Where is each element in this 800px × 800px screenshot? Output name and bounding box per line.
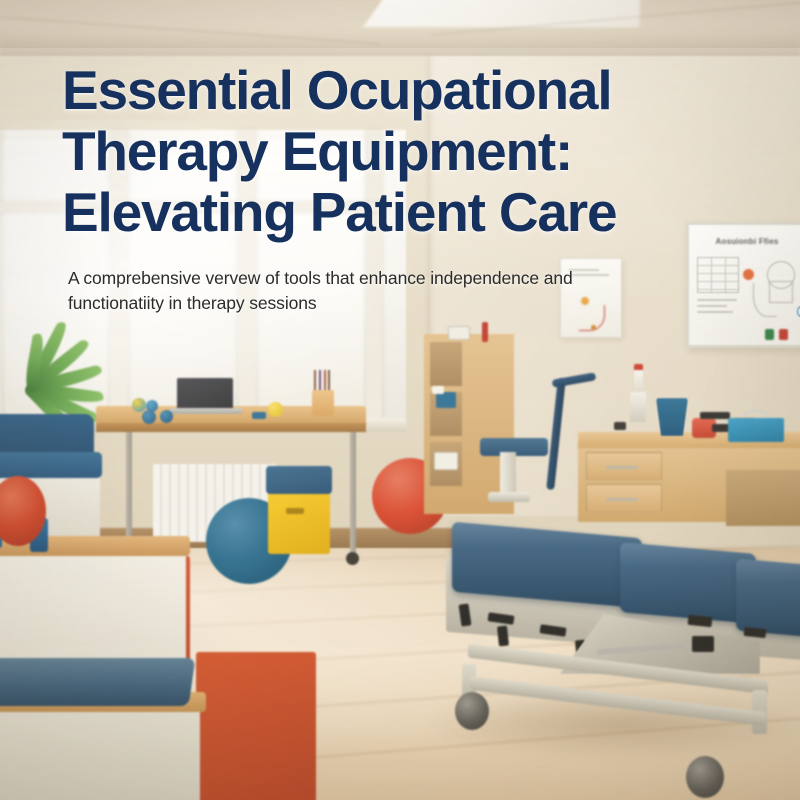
therapy-table-caster (686, 756, 724, 798)
equipment-case-blue (728, 418, 784, 442)
desk-leg (350, 430, 356, 558)
shelf-item-blue (436, 392, 456, 408)
ceiling-light-panel (363, 0, 641, 27)
shelf-item-white (434, 452, 458, 470)
whiteboard-dot-red (779, 329, 788, 340)
whiteboard-line (697, 311, 733, 313)
orange-bench-front (196, 652, 316, 800)
therapy-table-pedal (692, 636, 714, 652)
sanitizer-dispenser (630, 392, 646, 422)
window-mullion (366, 130, 382, 422)
shelf-item-red-bottle (482, 322, 488, 342)
whiteboard-dot-orange (743, 269, 754, 280)
therapy-table-mechanism (497, 626, 509, 647)
laptop-screen (177, 378, 233, 410)
therapy-ball-small (142, 410, 156, 424)
storage-box-yellow (268, 492, 330, 554)
whiteboard-connector (753, 283, 777, 317)
wall-poster (560, 258, 622, 338)
desk-item-blue (252, 412, 266, 419)
pencils (314, 370, 332, 392)
window-pane (254, 140, 366, 420)
therapy-ball-small (132, 398, 146, 412)
poster-canvas: Aosuionbi Ffies (0, 0, 800, 800)
therapy-ball-yellow (268, 402, 283, 417)
storage-box-handle (286, 508, 304, 514)
dispenser-neck (634, 370, 643, 394)
poster-accent-dot (591, 325, 596, 330)
therapy-table-caster (455, 692, 489, 730)
desk-caster (346, 552, 359, 565)
shelf-item-white (432, 386, 444, 394)
padded-stool-column (500, 452, 516, 496)
poster-line (569, 274, 609, 276)
window-mullion (238, 130, 256, 422)
shelf-item-monitor (448, 326, 470, 340)
desk-edge (96, 423, 366, 432)
window-transom (0, 202, 386, 212)
shelf-compartment (430, 342, 462, 386)
whiteboard-table-sketch (697, 257, 739, 293)
therapy-ball-small (160, 410, 173, 423)
whiteboard-line (697, 305, 727, 307)
whiteboard-line (697, 299, 737, 301)
counter-recess (726, 470, 800, 526)
dumbbell-bar (700, 412, 730, 419)
front-bench-body (0, 700, 200, 800)
poster-accent-dot (581, 297, 589, 305)
step-platform-blue (266, 466, 332, 494)
front-bench-cushion (0, 658, 195, 706)
blue-vase (656, 398, 688, 436)
therapy-table-pad-foot (736, 559, 800, 638)
pencil-cup (312, 390, 334, 416)
poster-line (569, 269, 599, 271)
room-scene-photo: Aosuionbi Ffies (0, 0, 800, 800)
laptop-base (170, 408, 242, 414)
drawer-pull (606, 498, 638, 501)
whiteboard: Aosuionbi Ffies (686, 222, 800, 348)
drawer-pull (606, 466, 638, 469)
counter-item-dark (614, 422, 626, 430)
waiting-chair-seat (0, 452, 102, 478)
padded-stool-base (488, 492, 530, 502)
whiteboard-dot-green (765, 329, 774, 340)
whiteboard-title: Aosuionbi Ffies (697, 237, 797, 246)
